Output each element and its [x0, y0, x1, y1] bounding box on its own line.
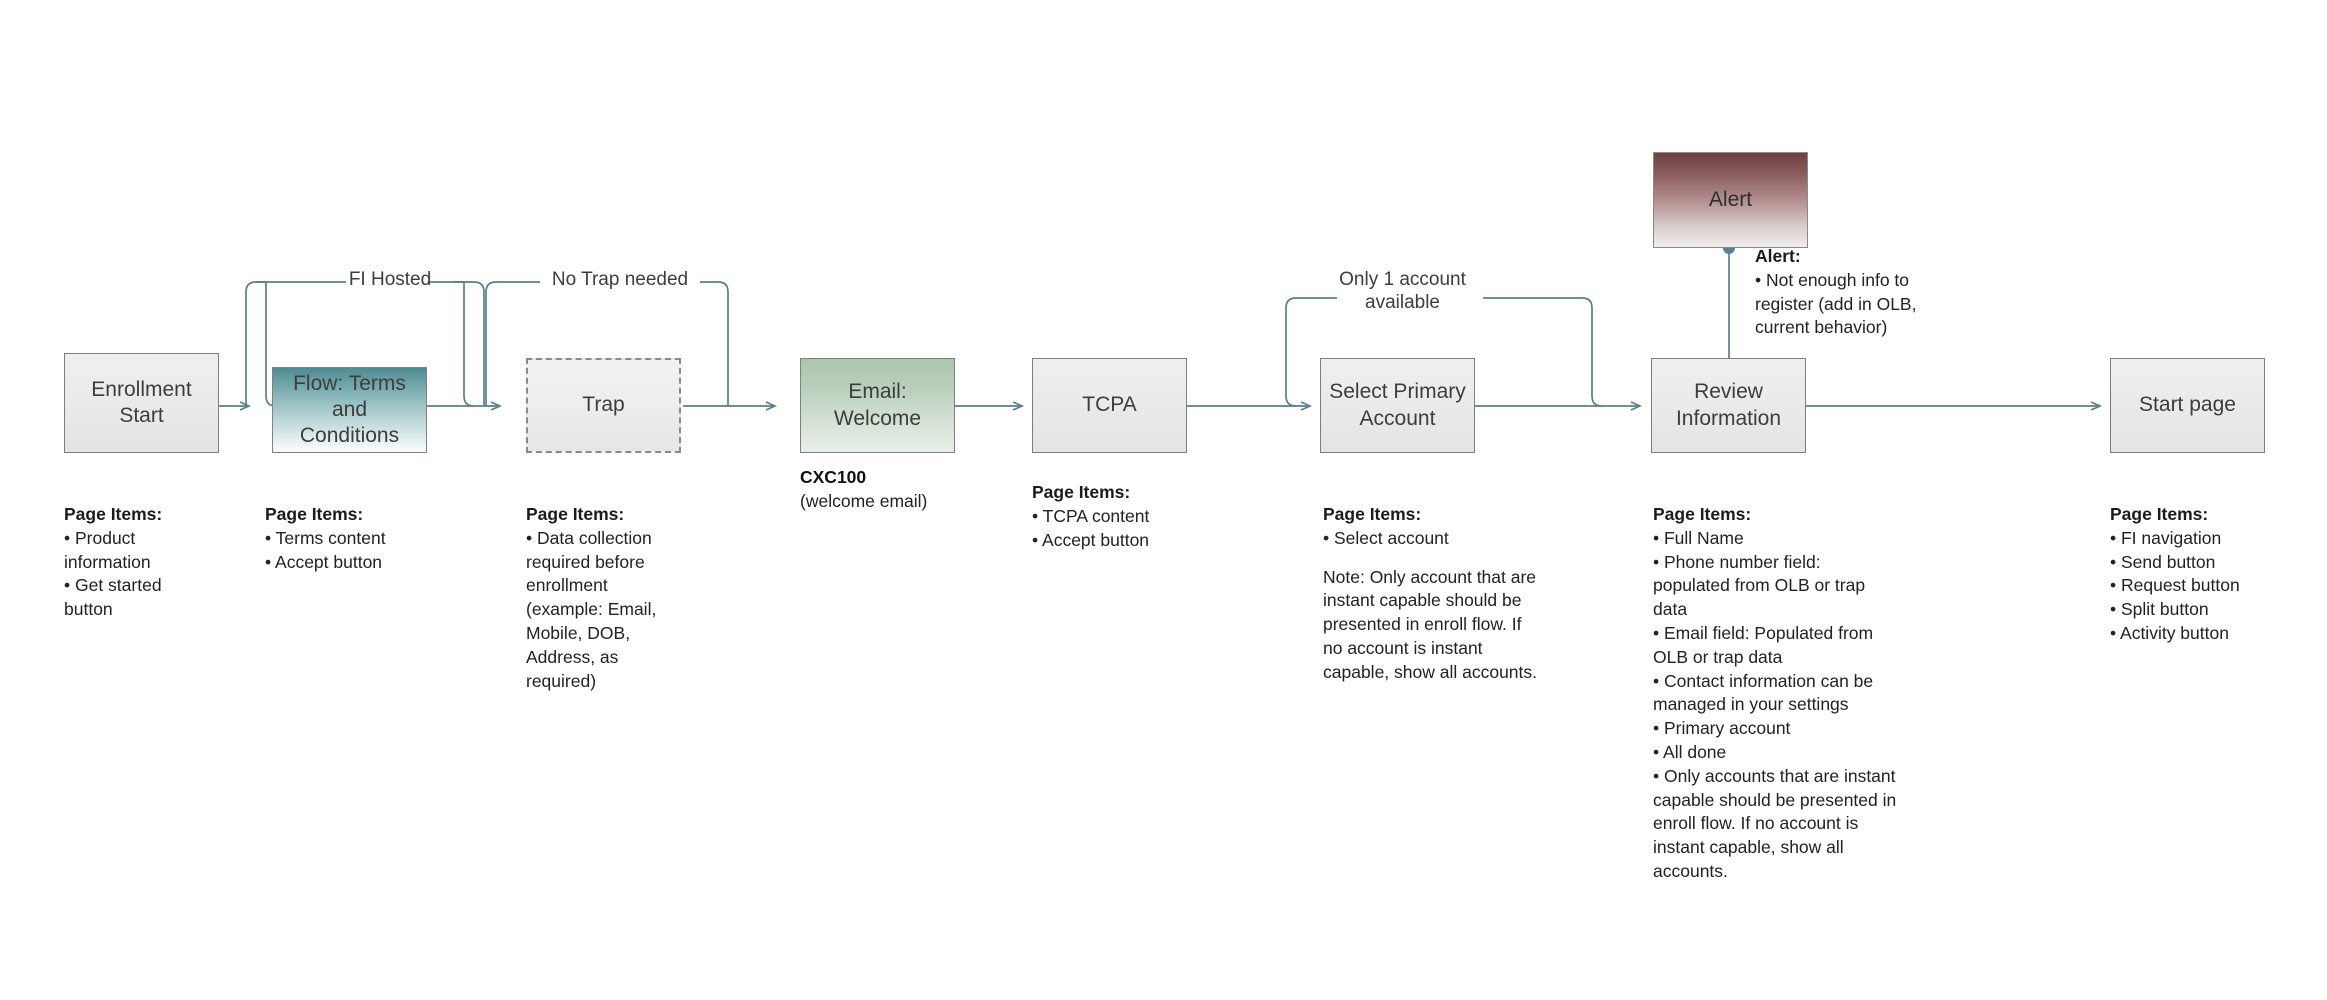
- notes-enrollment-start-item: • Product information: [64, 527, 209, 575]
- notes-review-information-item: • Full Name: [1653, 527, 1901, 551]
- notes-terms-conditions-heading: Page Items:: [265, 503, 415, 527]
- node-review-information[interactable]: Review Information: [1651, 358, 1806, 453]
- bracket-label-fi-hosted-text: FI Hosted: [349, 269, 431, 290]
- notes-tcpa-item: • Accept button: [1032, 529, 1202, 553]
- notes-terms-conditions: Page Items: • Terms content • Accept but…: [265, 503, 415, 574]
- node-tcpa[interactable]: TCPA: [1032, 358, 1187, 453]
- notes-trap-heading: Page Items:: [526, 503, 681, 527]
- node-email-welcome-label: Email: Welcome: [801, 379, 954, 432]
- notes-start-page-item: • Activity button: [2110, 622, 2310, 646]
- notes-review-information-item: • All done: [1653, 741, 1901, 765]
- bracket-no-trap-left-arm: [486, 282, 519, 406]
- node-select-primary-account-label: Select Primary Account: [1321, 379, 1474, 432]
- bracket-label-no-trap-needed-text: No Trap needed: [552, 269, 688, 290]
- notes-tcpa-item: • TCPA content: [1032, 505, 1202, 529]
- node-review-information-label: Review Information: [1652, 379, 1805, 432]
- bracket-no-trap-right-arm: [700, 282, 728, 406]
- bracket-fi-hosted-right: [454, 282, 474, 406]
- notes-start-page-item: • Split button: [2110, 598, 2310, 622]
- notes-start-page-item: • FI navigation: [2110, 527, 2310, 551]
- notes-enrollment-start: Page Items: • Product information • Get …: [64, 503, 209, 622]
- notes-review-information-item: • Email field: Populated from OLB or tra…: [1653, 622, 1901, 670]
- bracket-only1-right-arm: [1483, 298, 1602, 406]
- notes-tcpa-heading: Page Items:: [1032, 481, 1202, 505]
- notes-review-information-item: • Only accounts that are instant capable…: [1653, 765, 1901, 884]
- notes-alert: Alert: • Not enough info to register (ad…: [1755, 245, 1960, 340]
- notes-alert-heading: Alert:: [1755, 245, 1960, 269]
- notes-review-information-item: • Primary account: [1653, 717, 1901, 741]
- notes-enrollment-start-item: • Get started button: [64, 574, 209, 622]
- notes-review-information-item: • Contact information can be managed in …: [1653, 670, 1901, 718]
- bracket-label-fi-hosted: FI Hosted: [300, 268, 480, 291]
- caption-cxc100-bold: CXC100: [800, 466, 1020, 490]
- notes-terms-conditions-item: • Accept button: [265, 551, 415, 575]
- node-alert[interactable]: Alert: [1653, 152, 1808, 248]
- bracket-fi-hosted-top-right: [430, 282, 484, 406]
- node-trap-label: Trap: [574, 392, 632, 418]
- node-tcpa-label: TCPA: [1074, 392, 1144, 418]
- node-select-primary-account[interactable]: Select Primary Account: [1320, 358, 1475, 453]
- node-start-page-label: Start page: [2131, 392, 2244, 418]
- notes-review-information: Page Items: • Full Name • Phone number f…: [1653, 503, 1901, 884]
- node-enrollment-start-label: Enrollment Start: [65, 377, 218, 430]
- notes-review-information-heading: Page Items:: [1653, 503, 1901, 527]
- notes-alert-item: • Not enough info to register (add in OL…: [1755, 269, 1960, 340]
- node-start-page[interactable]: Start page: [2110, 358, 2265, 453]
- notes-start-page-item: • Send button: [2110, 551, 2310, 575]
- notes-start-page-item: • Request button: [2110, 574, 2310, 598]
- notes-select-primary-account-note: Note: Only account that are instant capa…: [1323, 566, 1538, 685]
- bracket-fi-hosted-left-arm: [246, 282, 256, 406]
- notes-start-page-heading: Page Items:: [2110, 503, 2310, 527]
- node-trap[interactable]: Trap: [526, 358, 681, 453]
- notes-start-page: Page Items: • FI navigation • Send butto…: [2110, 503, 2310, 646]
- notes-spacer: [1323, 551, 1538, 566]
- notes-select-primary-account-item: • Select account: [1323, 527, 1538, 551]
- notes-tcpa: Page Items: • TCPA content • Accept butt…: [1032, 481, 1202, 552]
- notes-trap-item: • Data collection required before enroll…: [526, 527, 681, 694]
- notes-enrollment-start-heading: Page Items:: [64, 503, 209, 527]
- bracket-label-only-1-account: Only 1 account available: [1320, 268, 1485, 314]
- bracket-label-only-1-account-text: Only 1 account available: [1339, 269, 1466, 313]
- node-email-welcome[interactable]: Email: Welcome: [800, 358, 955, 453]
- notes-review-information-item: • Phone number field: populated from OLB…: [1653, 551, 1901, 622]
- bracket-label-no-trap-needed: No Trap needed: [525, 268, 715, 291]
- node-flow-terms-conditions[interactable]: Flow: Terms and Conditions: [272, 367, 427, 453]
- notes-select-primary-account-heading: Page Items:: [1323, 503, 1538, 527]
- node-enrollment-start[interactable]: Enrollment Start: [64, 353, 219, 453]
- diagram-canvas: Enrollment Start Flow: Terms and Conditi…: [0, 0, 2327, 1000]
- caption-cxc100: CXC100 (welcome email): [800, 466, 1020, 514]
- notes-terms-conditions-item: • Terms content: [265, 527, 415, 551]
- node-flow-terms-conditions-label: Flow: Terms and Conditions: [273, 371, 426, 450]
- notes-select-primary-account: Page Items: • Select account Note: Only …: [1323, 503, 1538, 685]
- caption-cxc100-normal: (welcome email): [800, 490, 1020, 514]
- notes-trap: Page Items: • Data collection required b…: [526, 503, 681, 693]
- node-alert-label: Alert: [1701, 187, 1760, 213]
